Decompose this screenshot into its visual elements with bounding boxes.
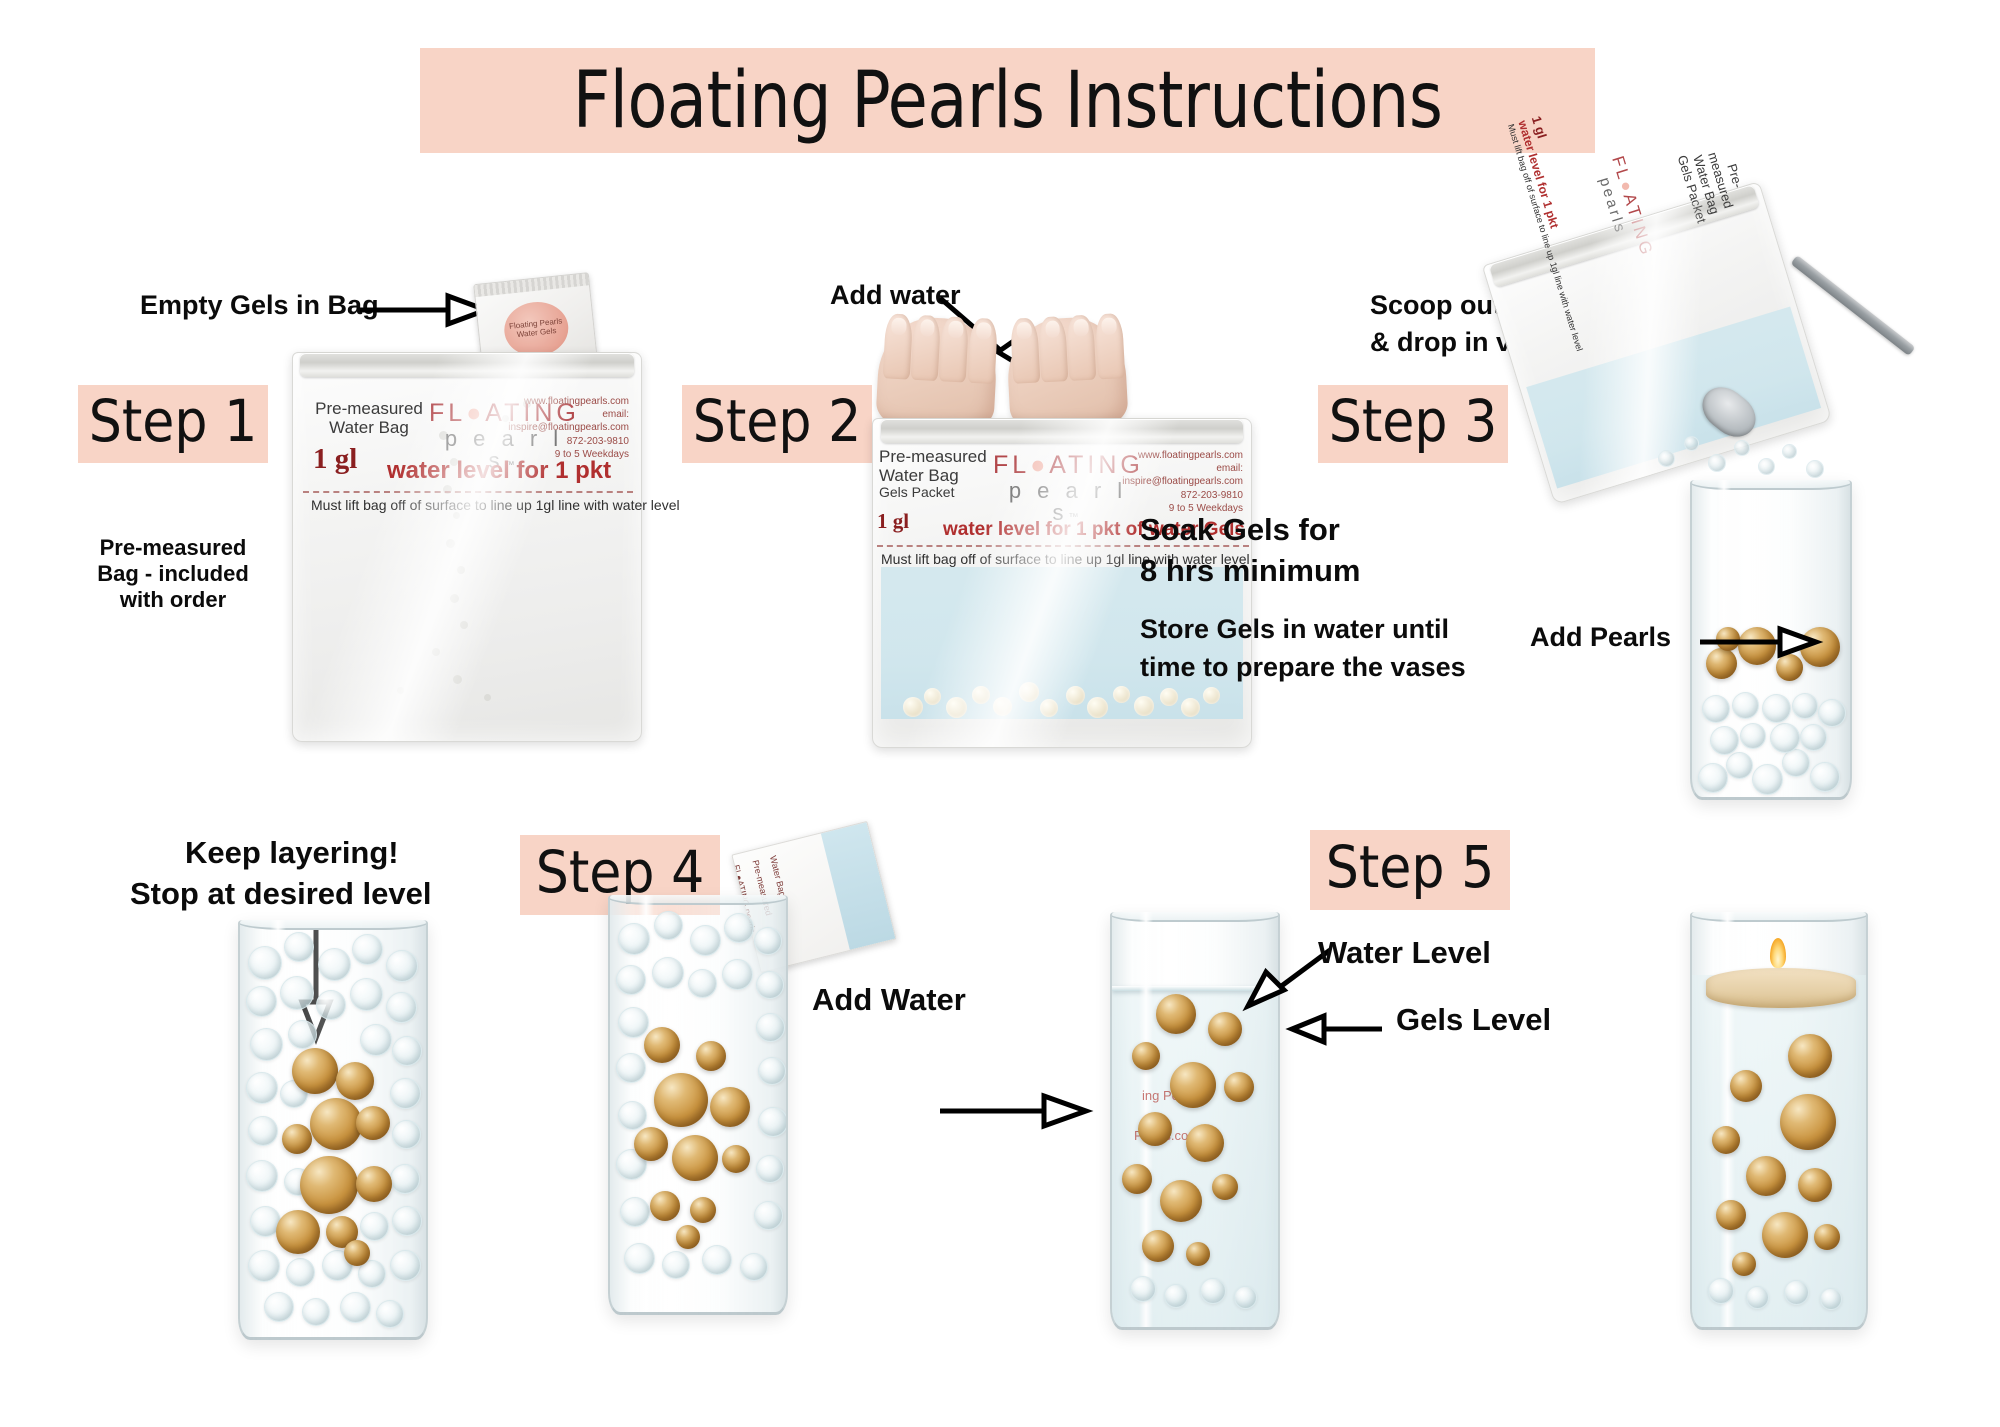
label-card-water-area — [821, 822, 896, 950]
contact-website: www.floatingpearls.com — [499, 395, 629, 408]
bag-volume-step1: 1 gl — [313, 443, 357, 476]
bag2-premeasured-line3: Gels Packet — [879, 485, 989, 501]
vase-step4 — [608, 895, 788, 1315]
page-title-banner: Floating Pearls Instructions — [420, 48, 1595, 153]
right-hand — [1005, 315, 1129, 433]
step1-note-line2: Bag - included — [78, 561, 268, 587]
label-card-waterbag: Water Bag — [766, 855, 788, 899]
step2-soak-line2: 8 hrs minimum — [1140, 553, 1361, 590]
vase-final-candle — [1690, 912, 1868, 1330]
contact-email-2: inspire@floatingpearls.com — [1103, 475, 1243, 488]
vase-layered — [238, 920, 428, 1340]
bag-premeasured-line2: Water Bag — [309, 418, 429, 437]
water-bag-step1: Pre-measured Water Bag 1 gl FL●ATING p e… — [292, 352, 642, 742]
keep-layering-line2: Stop at desired level — [130, 876, 432, 913]
step3-chip: Step 3 — [1318, 385, 1508, 463]
step1-note-line1: Pre-measured — [78, 535, 268, 561]
step1-premeasured-note: Pre-measured Bag - included with order — [78, 535, 268, 613]
arrow-right-icon-step3 — [1700, 626, 1820, 658]
bag-fill-dashline-step1 — [303, 491, 633, 493]
contact-email-label: email: — [499, 408, 629, 421]
packet-seal — [474, 273, 589, 297]
bag-zip-seal-step2 — [881, 419, 1244, 443]
flame-icon — [1770, 938, 1786, 968]
step1-chip: Step 1 — [78, 385, 268, 463]
step4-contents — [610, 895, 786, 1312]
contact-website-2: www.floatingpearls.com — [1103, 449, 1243, 462]
bag-water-level-text-step1: water level for 1 pkt — [387, 457, 611, 485]
page-title: Floating Pearls Instructions — [573, 56, 1443, 146]
step5-chip: Step 5 — [1310, 830, 1510, 910]
step2-soak-line1: Soak Gels for — [1140, 512, 1340, 549]
keep-layering-line1: Keep layering! — [185, 835, 399, 872]
left-hand — [875, 315, 999, 433]
bag-zip-seal — [300, 353, 634, 377]
step2-store-line1: Store Gels in water until — [1140, 614, 1449, 646]
packet-logo-dot: Floating Pearls Water Gels — [502, 299, 571, 359]
contact-email: inspire@floatingpearls.com — [499, 421, 629, 434]
bag-contact-block-step1: www.floatingpearls.com email: inspire@fl… — [499, 395, 629, 461]
vase-rim-step3 — [1690, 480, 1852, 490]
bag-must-lift-text-step1: Must lift bag off of surface to line up … — [311, 497, 680, 513]
spoon-icon-handle — [1791, 255, 1916, 356]
water-level-label: Water Level — [1318, 935, 1491, 972]
contact-phone-2: 872-203-9810 — [1103, 489, 1243, 502]
step2-store-line2: time to prepare the vases — [1140, 652, 1466, 684]
bag-contact-block-step2: www.floatingpearls.com email: inspire@fl… — [1103, 449, 1243, 515]
arrow-left-icon-gels-level — [1290, 1012, 1386, 1046]
bag-premeasured-line1: Pre-measured — [309, 399, 429, 418]
gels-level-label: Gels Level — [1396, 1002, 1551, 1039]
layered-contents — [240, 920, 426, 1337]
bag2-premeasured-line1: Pre-measured — [879, 447, 989, 466]
step2-chip: Step 2 — [682, 385, 872, 463]
contact-phone: 872-203-9810 — [499, 435, 629, 448]
step3-add-pearls-label: Add Pearls — [1530, 622, 1671, 654]
packet-front-text: Floating Pearls Water Gels — [502, 299, 571, 359]
arrow-right-icon-transition — [940, 1090, 1090, 1132]
bag-volume-step2: 1 gl — [877, 509, 909, 534]
step1-note-line3: with order — [78, 587, 268, 613]
bag2-premeasured-line2: Water Bag — [879, 466, 989, 485]
final-contents — [1692, 912, 1866, 1327]
arrow-right-icon-step1 — [360, 293, 490, 327]
contact-email-label-2: email: — [1103, 462, 1243, 475]
infographic-canvas: Floating Pearls Instructions Empty Gels … — [0, 0, 2000, 1427]
step1-empty-gels-label: Empty Gels in Bag — [140, 290, 379, 322]
step4-add-water-label: Add Water — [812, 982, 966, 1019]
